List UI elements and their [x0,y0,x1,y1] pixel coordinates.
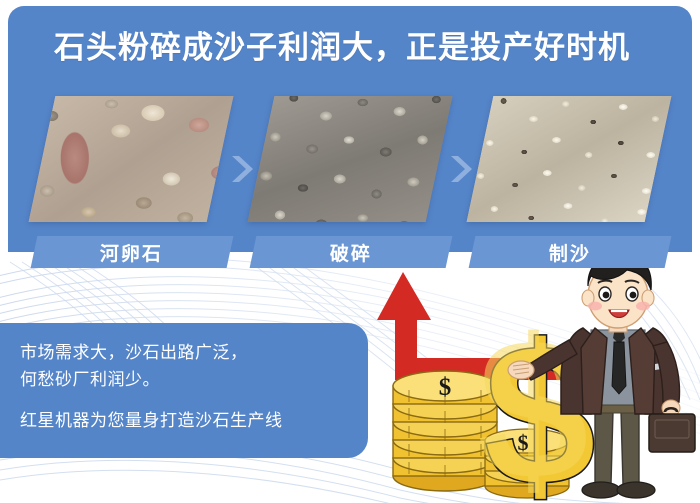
process-step-label: 破碎 [250,236,453,268]
manufactured-sand-photo [467,96,672,222]
message-line-2: 何愁砂厂利润少。 [20,366,360,393]
river-pebbles-photo [29,96,234,222]
message-lines: 市场需求大，沙石出路广泛， 何愁砂厂利润少。 红星机器为您量身打造沙石生产线 [20,339,360,434]
coin-dollar-symbol: $ [439,374,452,401]
chevron-right-icon [449,154,475,184]
process-step-label: 制沙 [469,236,672,268]
process-step-crushing[interactable]: 破碎 [253,96,449,271]
message-line-3: 红星机器为您量身打造沙石生产线 [20,407,360,434]
message-line-1: 市场需求大，沙石出路广泛， [20,339,360,366]
promo-banner: 石头粉碎成沙子利润大，正是投产好时机 河卵石 破碎 [0,0,700,503]
process-step-label-text: 破碎 [330,239,372,266]
process-step-label: 河卵石 [31,236,234,268]
page-title: 石头粉碎成沙子利润大，正是投产好时机 [0,22,684,67]
briefcase-icon [649,408,695,452]
process-step-river-pebbles[interactable]: 河卵石 [34,96,230,271]
message-panel: 市场需求大，沙石出路广泛， 何愁砂厂利润少。 红星机器为您量身打造沙石生产线 [0,323,368,458]
chevron-right-icon [230,154,256,184]
crushed-gravel-photo [248,96,453,222]
profit-illustration: $ $ $ $ [355,262,700,503]
process-flow: 河卵石 破碎 制沙 [8,96,692,271]
process-step-sand-making[interactable]: 制沙 [472,96,668,271]
process-step-label-text: 河卵石 [100,239,163,266]
process-step-label-text: 制沙 [549,239,591,266]
